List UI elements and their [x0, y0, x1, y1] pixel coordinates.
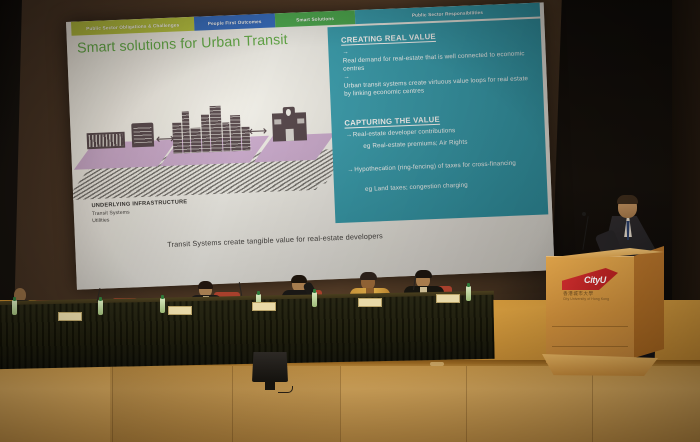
lectern-side-panel — [634, 246, 664, 358]
lectern: CityU 香港城市大學 City University of Hong Kon… — [546, 246, 672, 374]
slide-tab-smart-solutions: Smart Solutions — [275, 10, 356, 27]
stage-floor-monitor — [252, 352, 288, 390]
panelist-hair — [360, 272, 377, 280]
projection-screen: Public Sector Obligations & Challenges P… — [66, 2, 555, 289]
panel-heading-creating-value: CREATING REAL VALUE — [341, 32, 436, 45]
cityu-logo: CityU 香港城市大學 City University of Hong Kon… — [562, 268, 618, 302]
monitor-body — [252, 352, 288, 382]
panel-heading-capturing-value: CAPTURING THE VALUE — [344, 115, 440, 128]
stage-panel-seam — [340, 366, 341, 442]
panelist-hair — [415, 270, 432, 278]
connector-arrow-left: ⟷ — [156, 132, 175, 146]
slide-footer-line: Transit Systems create tangible value fo… — [167, 224, 549, 249]
arrow-icon: → — [342, 48, 349, 57]
cityu-logo-text: CityU — [584, 275, 606, 285]
water-bottle — [466, 286, 471, 301]
name-card — [58, 312, 82, 321]
monitor-cable — [278, 386, 293, 393]
monitor-stand — [265, 381, 275, 390]
panel-subpoint-2: eg Land taxes; congestion charging — [365, 178, 545, 194]
stage-panel-seam — [112, 366, 113, 442]
stage-front-shadow — [110, 366, 340, 442]
lectern-groove — [552, 326, 628, 327]
slide-surface: Public Sector Obligations & Challenges P… — [66, 2, 555, 289]
name-card — [436, 294, 460, 303]
building-lowrise — [87, 132, 126, 150]
slide-infographic: ⟷ ⟷ UNDERLYING INFRASTRUCTURE Transit Sy… — [76, 97, 331, 227]
panelist-hair — [291, 275, 307, 283]
panel-table-drape — [0, 295, 495, 369]
lectern-base — [542, 354, 658, 376]
connector-arrow-right: ⟷ — [248, 124, 267, 138]
presenter-hair — [617, 195, 638, 204]
name-card — [252, 302, 276, 311]
panel-bullet-4-text: Hypothecation (ring-fencing) of taxes fo… — [354, 160, 516, 175]
stage-panel-seam — [592, 366, 593, 442]
name-card — [168, 306, 192, 315]
panel-bullet-4: →Hypothecation (ring-fencing) of taxes f… — [347, 159, 543, 176]
slide-tab-people-first: People First Outcomes — [194, 13, 276, 30]
podium-microphone-head — [582, 212, 586, 216]
water-bottle — [160, 298, 165, 313]
infrastructure-items: Transit Systems Utilities — [92, 210, 130, 226]
stage-panel-seam — [466, 366, 467, 442]
panel-bullet-3-text: Real-estate developer contributions — [353, 127, 456, 140]
slide-value-panel: CREATING REAL VALUE CAPTURING THE VALUE … — [327, 19, 548, 224]
building-cluster-city — [172, 104, 258, 153]
cityu-logo-english: City University of Hong Kong — [563, 297, 609, 301]
water-bottle — [12, 300, 17, 315]
floor-object — [430, 362, 444, 366]
presentation-photo: Public Sector Obligations & Challenges P… — [0, 0, 700, 442]
stage-panel-seam — [232, 366, 233, 442]
lectern-groove — [552, 346, 628, 347]
water-bottle — [312, 292, 317, 307]
water-bottle — [98, 300, 103, 315]
stage-front-panel — [0, 366, 700, 442]
building-midrise — [131, 123, 154, 148]
arrow-icon: → — [343, 73, 350, 82]
panel-bullet-2-text: Urban transit systems create virtuous va… — [344, 74, 537, 99]
far-right-wall — [672, 0, 700, 330]
panelist-hair — [198, 281, 213, 289]
infrastructure-label: UNDERLYING INFRASTRUCTURE — [91, 199, 187, 209]
building-institution — [272, 112, 307, 141]
name-card — [358, 298, 382, 307]
